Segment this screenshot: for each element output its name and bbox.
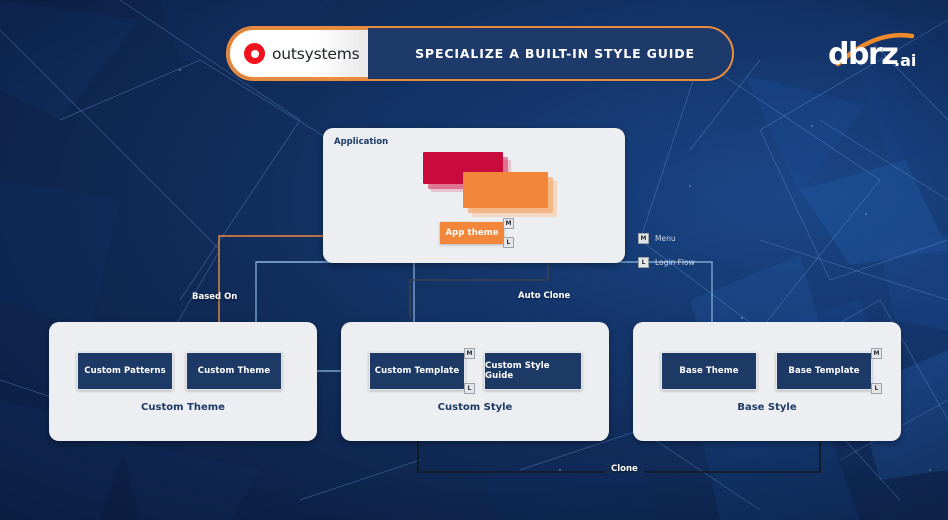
node-base-theme-label: Base Theme — [679, 366, 738, 376]
connector-label-based-on: Based On — [192, 292, 237, 302]
connector-label-auto-clone: Auto Clone — [518, 291, 570, 301]
legend: M Menu L Login Flow — [638, 230, 695, 278]
login-flow-badge-icon: L — [871, 383, 882, 394]
node-base-template-label: Base Template — [788, 366, 859, 376]
legend-item-menu: M Menu — [638, 230, 695, 246]
node-custom-style-guide[interactable]: Custom Style Guide — [484, 352, 582, 390]
legend-label-menu: Menu — [655, 234, 676, 243]
application-panel-title: Application — [334, 137, 388, 147]
outsystems-logo: outsystems — [228, 28, 368, 79]
custom-style-panel-caption: Custom Style — [341, 402, 609, 413]
outsystems-wordmark: outsystems — [272, 45, 360, 63]
node-custom-template[interactable]: Custom Template M L — [369, 352, 465, 390]
base-style-panel-caption: Base Style — [633, 402, 901, 413]
page-title: SPECIALIZE A BUILT-IN STYLE GUIDE — [368, 28, 732, 79]
application-panel: Application App theme M L — [323, 128, 625, 263]
connector-label-clone: Clone — [605, 464, 644, 474]
menu-badge-icon: M — [638, 233, 649, 244]
menu-badge-icon: M — [503, 218, 514, 229]
login-flow-badge-icon: L — [503, 237, 514, 248]
node-custom-template-label: Custom Template — [375, 366, 459, 376]
node-base-theme[interactable]: Base Theme — [661, 352, 757, 390]
svg-text:dbrz: dbrz — [828, 37, 898, 72]
title-banner: outsystems SPECIALIZE A BUILT-IN STYLE G… — [226, 26, 734, 81]
legend-item-login-flow: L Login Flow — [638, 254, 695, 270]
dbrz-ai-watermark: dbrz .ai — [828, 28, 936, 72]
legend-label-login-flow: Login Flow — [655, 258, 695, 267]
outsystems-logo-icon — [244, 43, 265, 64]
menu-badge-icon: M — [464, 348, 475, 359]
menu-badge-icon: M — [871, 348, 882, 359]
node-custom-theme[interactable]: Custom Theme — [186, 352, 282, 390]
svg-text:.ai: .ai — [894, 51, 916, 70]
custom-theme-panel-caption: Custom Theme — [49, 402, 317, 413]
node-app-theme[interactable]: App theme M L — [440, 222, 504, 244]
node-custom-patterns-label: Custom Patterns — [84, 366, 166, 376]
login-flow-badge-icon: L — [464, 383, 475, 394]
node-base-template[interactable]: Base Template M L — [776, 352, 872, 390]
login-flow-badge-icon: L — [638, 257, 649, 268]
base-style-panel: Base Theme Base Template M L Base Style — [633, 322, 901, 441]
slide-canvas: outsystems SPECIALIZE A BUILT-IN STYLE G… — [0, 0, 948, 520]
node-app-theme-label: App theme — [445, 228, 498, 238]
custom-theme-panel: Custom Patterns Custom Theme Custom Them… — [49, 322, 317, 441]
node-custom-theme-label: Custom Theme — [198, 366, 271, 376]
custom-style-panel: Custom Template M L Custom Style Guide C… — [341, 322, 609, 441]
node-custom-patterns[interactable]: Custom Patterns — [77, 352, 173, 390]
orange-card-stack — [463, 172, 563, 220]
node-custom-style-guide-label: Custom Style Guide — [485, 361, 581, 381]
